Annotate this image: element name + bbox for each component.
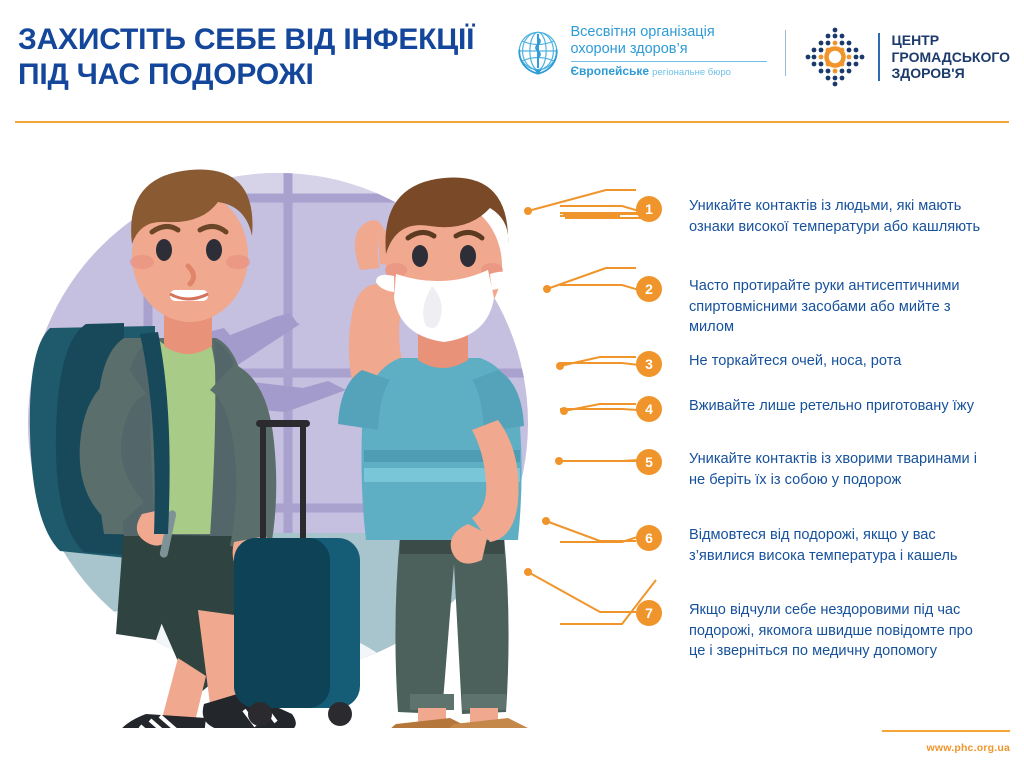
who-name-line-2: охорони здоров’я <box>571 41 767 58</box>
footer-url[interactable]: www.phc.org.ua <box>927 742 1011 754</box>
tip-number-4: 4 <box>636 396 662 422</box>
footer-divider <box>882 730 1010 732</box>
title-line-1: ЗАХИСТІТЬ СЕБЕ ВІД ІНФЕКЦІЇ <box>18 23 474 56</box>
logo-group: Всесвітня організація охорони здоров’я Є… <box>512 24 1011 90</box>
tip-text-4: Вживайте лише ретельно приготовану їжу <box>689 396 989 417</box>
tip-text-3: Не торкайтеся очей, носа, рота <box>689 351 989 372</box>
tip-item-2[interactable]: 2 Часто протирайте руки антисептичними с… <box>636 276 989 338</box>
travellers-illustration <box>28 138 608 728</box>
tip-item-6[interactable]: 6 Відмовтеся від подорожі, якщо у вас з’… <box>636 525 989 566</box>
page-title: ЗАХИСТІТЬ СЕБЕ ВІД ІНФЕКЦІЇ ПІД ЧАС ПОДО… <box>18 22 578 92</box>
tip-item-3[interactable]: 3 Не торкайтеся очей, носа, рота <box>636 351 989 377</box>
phc-logo-divider <box>878 33 880 81</box>
who-emblem-icon <box>512 25 564 77</box>
phc-logo: ЦЕНТР ГРОМАДСЬКОГО ЗДОРОВ'Я <box>802 24 1011 90</box>
who-name-line-1: Всесвітня організація <box>571 24 767 41</box>
phc-logo-text: ЦЕНТР ГРОМАДСЬКОГО ЗДОРОВ'Я <box>892 32 1011 82</box>
tip-item-4[interactable]: 4 Вживайте лише ретельно приготовану їжу <box>636 396 989 422</box>
phc-line-3: ЗДОРОВ'Я <box>892 65 1011 82</box>
illustration-canvas <box>28 138 608 728</box>
tip-item-1[interactable]: 1 Уникайте контактів із людьми, які мают… <box>636 196 989 237</box>
who-office-region: Європейське <box>571 64 650 78</box>
tip-number-5: 5 <box>636 449 662 475</box>
who-logo: Всесвітня організація охорони здоров’я Є… <box>512 24 767 79</box>
who-logo-text: Всесвітня організація охорони здоров’я Є… <box>571 24 767 79</box>
right-pants <box>395 536 508 714</box>
tip-number-2: 2 <box>636 276 662 302</box>
tip-text-5: Уникайте контактів із хворими тваринами … <box>689 449 989 490</box>
who-office-line: Європейське регіональне бюро <box>571 65 767 79</box>
tip-number-1: 1 <box>636 196 662 222</box>
tip-number-6: 6 <box>636 525 662 551</box>
tips-list: 1 Уникайте контактів із людьми, які мают… <box>560 180 1020 700</box>
who-office-suffix: регіональне бюро <box>652 67 731 78</box>
logo-divider <box>785 30 786 76</box>
tip-text-6: Відмовтеся від подорожі, якщо у вас з’яв… <box>689 525 989 566</box>
phc-emblem-icon <box>802 24 868 90</box>
tip-item-7[interactable]: 7 Якщо відчули себе нездоровими під час … <box>636 600 989 662</box>
tip-item-5[interactable]: 5 Уникайте контактів із хворими тваринам… <box>636 449 989 490</box>
who-logo-rule <box>571 61 767 62</box>
tip-text-7: Якщо відчули себе нездоровими під час по… <box>689 600 989 662</box>
title-line-2: ПІД ЧАС ПОДОРОЖІ <box>18 57 578 92</box>
phc-line-2: ГРОМАДСЬКОГО <box>892 49 1011 66</box>
tip-number-7: 7 <box>636 600 662 626</box>
tip-number-3: 3 <box>636 351 662 377</box>
tip-text-2: Часто протирайте руки антисептичними спи… <box>689 276 989 338</box>
phc-line-1: ЦЕНТР <box>892 32 1011 49</box>
header-divider <box>15 121 1009 123</box>
tip-text-1: Уникайте контактів із людьми, які мають … <box>689 196 989 237</box>
infographic-page: ЗАХИСТІТЬ СЕБЕ ВІД ІНФЕКЦІЇ ПІД ЧАС ПОДО… <box>0 0 1024 768</box>
